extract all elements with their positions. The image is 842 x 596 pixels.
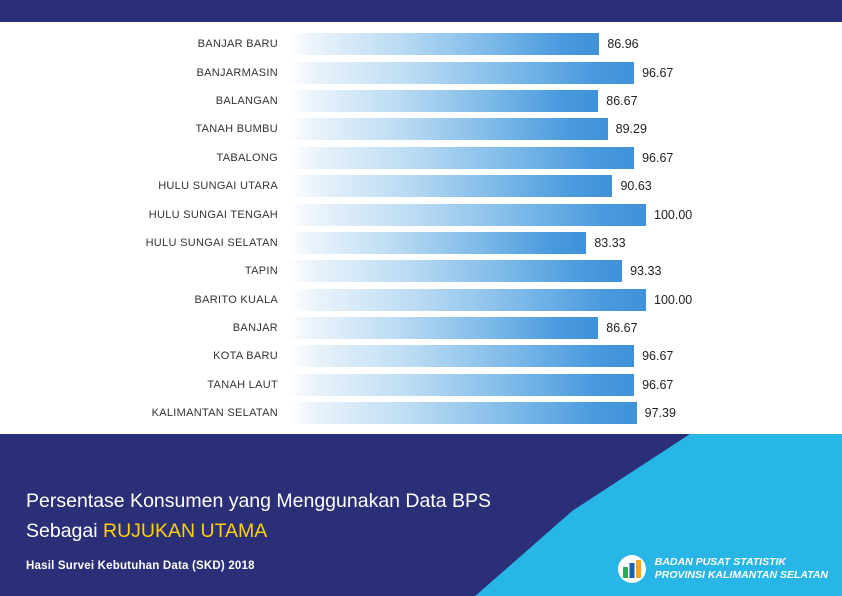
bar-category-label: BANJARMASIN: [0, 67, 288, 79]
bar-value-label: 83.33: [594, 236, 625, 250]
bar-value-label: 89.29: [616, 122, 647, 136]
bar-category-label: TABALONG: [0, 152, 288, 164]
bar: [288, 260, 622, 282]
chart-row: BANJAR BARU86.96: [0, 30, 842, 58]
chart-row: KOTA BARU96.67: [0, 342, 842, 370]
bar: [288, 289, 646, 311]
bar: [288, 62, 634, 84]
bar-value-label: 96.67: [642, 378, 673, 392]
chart-row: HULU SUNGAI TENGAH100.00: [0, 200, 842, 228]
bar-category-label: BANJAR: [0, 322, 288, 334]
bar-track: 96.67: [288, 62, 842, 84]
bar-value-label: 86.96: [607, 37, 638, 51]
bar-track: 100.00: [288, 204, 842, 226]
bps-logo-block: BADAN PUSAT STATISTIK PROVINSI KALIMANTA…: [617, 554, 828, 584]
bar-track: 96.67: [288, 374, 842, 396]
bps-logo-line2: PROVINSI KALIMANTAN SELATAN: [655, 569, 828, 581]
bar-track: 86.67: [288, 317, 842, 339]
bar: [288, 33, 599, 55]
bar: [288, 90, 598, 112]
bar-category-label: TAPIN: [0, 265, 288, 277]
bottom-banner: Persentase Konsumen yang Menggunakan Dat…: [0, 434, 842, 596]
bar-category-label: KOTA BARU: [0, 350, 288, 362]
chart-row: TANAH BUMBU89.29: [0, 115, 842, 143]
bar-category-label: KALIMANTAN SELATAN: [0, 407, 288, 419]
bps-logo-text: BADAN PUSAT STATISTIK PROVINSI KALIMANTA…: [655, 556, 828, 582]
chart-row: KALIMANTAN SELATAN97.39: [0, 399, 842, 427]
bar-track: 89.29: [288, 118, 842, 140]
bar-chart: BANJAR BARU86.96BANJARMASIN96.67BALANGAN…: [0, 22, 842, 434]
bar-category-label: HULU SUNGAI SELATAN: [0, 237, 288, 249]
bps-logo-line1: BADAN PUSAT STATISTIK: [655, 556, 786, 568]
chart-row: BARITO KUALA100.00: [0, 286, 842, 314]
bar-value-label: 96.67: [642, 349, 673, 363]
bar: [288, 374, 634, 396]
bar-track: 96.67: [288, 345, 842, 367]
bar-value-label: 100.00: [654, 293, 692, 307]
bar: [288, 175, 612, 197]
banner-title-line2: Sebagai RUJUKAN UTAMA: [26, 516, 491, 546]
bar: [288, 118, 608, 140]
bar-track: 86.67: [288, 90, 842, 112]
banner-title-line1: Persentase Konsumen yang Menggunakan Dat…: [26, 486, 491, 516]
chart-row: BANJARMASIN96.67: [0, 58, 842, 86]
bar-category-label: HULU SUNGAI UTARA: [0, 180, 288, 192]
bar: [288, 204, 646, 226]
bar: [288, 317, 598, 339]
bar: [288, 147, 634, 169]
top-bar: [0, 0, 842, 22]
chart-row: BALANGAN86.67: [0, 87, 842, 115]
bar-track: 83.33: [288, 232, 842, 254]
infographic-page: BANJAR BARU86.96BANJARMASIN96.67BALANGAN…: [0, 0, 842, 596]
banner-title-highlight: RUJUKAN UTAMA: [103, 520, 267, 542]
bar: [288, 402, 637, 424]
chart-row: BANJAR86.67: [0, 314, 842, 342]
bar-track: 93.33: [288, 260, 842, 282]
bar: [288, 345, 634, 367]
bar: [288, 232, 586, 254]
bar-track: 96.67: [288, 147, 842, 169]
chart-row: TABALONG96.67: [0, 144, 842, 172]
banner-title-line2-prefix: Sebagai: [26, 520, 103, 542]
bar-value-label: 96.67: [642, 66, 673, 80]
chart-rows: BANJAR BARU86.96BANJARMASIN96.67BALANGAN…: [0, 30, 842, 427]
bar-value-label: 97.39: [645, 406, 676, 420]
banner-subtitle: Hasil Survei Kebutuhan Data (SKD) 2018: [26, 560, 491, 572]
bar-value-label: 100.00: [654, 208, 692, 222]
banner-text-block: Persentase Konsumen yang Menggunakan Dat…: [26, 486, 491, 572]
bar-category-label: TANAH LAUT: [0, 379, 288, 391]
bar-track: 90.63: [288, 175, 842, 197]
bps-logo-icon: [617, 554, 647, 584]
bar-category-label: BANJAR BARU: [0, 38, 288, 50]
chart-row: TANAH LAUT96.67: [0, 371, 842, 399]
bar-value-label: 96.67: [642, 151, 673, 165]
chart-row: TAPIN93.33: [0, 257, 842, 285]
chart-row: HULU SUNGAI SELATAN83.33: [0, 229, 842, 257]
bar-value-label: 86.67: [606, 321, 637, 335]
bar-value-label: 93.33: [630, 264, 661, 278]
bar-track: 97.39: [288, 402, 842, 424]
chart-row: HULU SUNGAI UTARA90.63: [0, 172, 842, 200]
bar-value-label: 90.63: [620, 179, 651, 193]
bar-category-label: HULU SUNGAI TENGAH: [0, 209, 288, 221]
bar-category-label: TANAH BUMBU: [0, 123, 288, 135]
bar-track: 100.00: [288, 289, 842, 311]
bar-category-label: BALANGAN: [0, 95, 288, 107]
bar-value-label: 86.67: [606, 94, 637, 108]
bar-category-label: BARITO KUALA: [0, 294, 288, 306]
bar-track: 86.96: [288, 33, 842, 55]
